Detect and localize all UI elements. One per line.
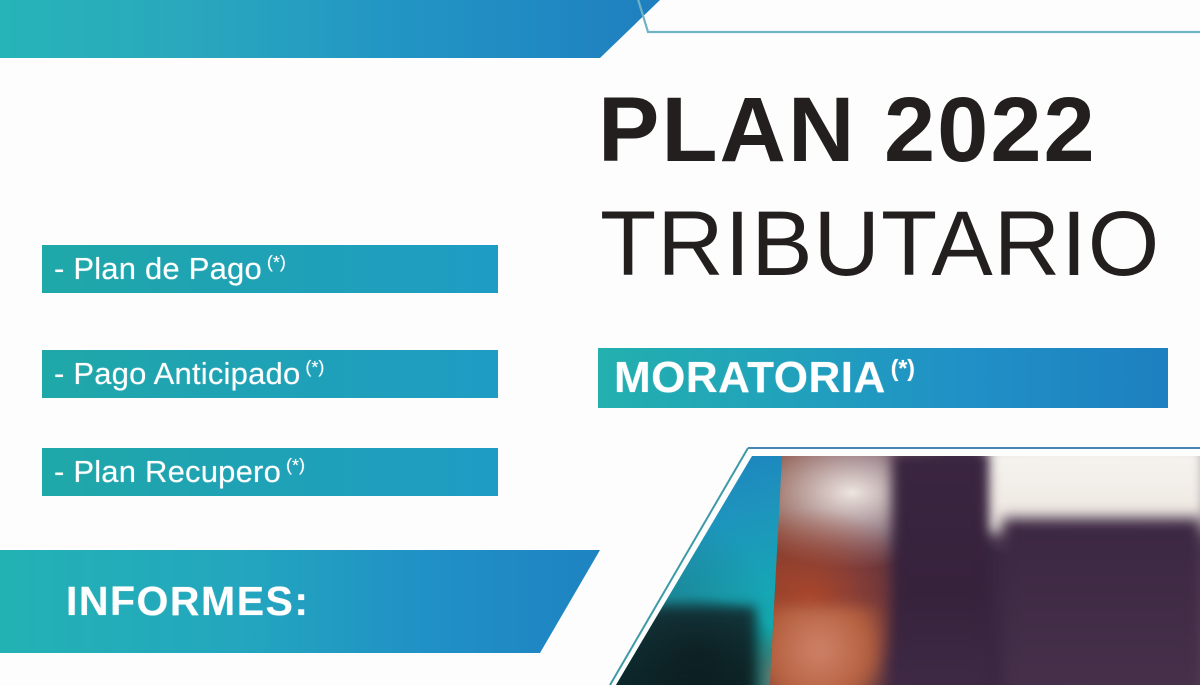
top-outline-accent-shape bbox=[600, 0, 1200, 46]
moratoria-text: MORATORIA bbox=[614, 353, 886, 402]
option-label: - Plan Recupero bbox=[54, 454, 281, 489]
option-bar-plan-recupero[interactable]: - Plan Recupero(*) bbox=[42, 448, 498, 496]
page-subtitle: TRIBUTARIO bbox=[600, 198, 1160, 290]
photo-right-panel bbox=[770, 456, 1200, 685]
informes-label: INFORMES: bbox=[0, 578, 310, 625]
option-asterisk: (*) bbox=[286, 455, 305, 475]
informes-banner: INFORMES: bbox=[0, 550, 600, 653]
poster-canvas: PLAN 2022 TRIBUTARIO MORATORIA(*) - Plan… bbox=[0, 0, 1200, 685]
option-bar-plan-de-pago[interactable]: - Plan de Pago(*) bbox=[42, 245, 498, 293]
photo-collage bbox=[608, 446, 1200, 685]
option-label: - Pago Anticipado bbox=[54, 356, 300, 391]
option-label: - Plan de Pago bbox=[54, 251, 262, 286]
option-asterisk: (*) bbox=[267, 252, 286, 272]
photo-right-sleeve-right bbox=[1002, 518, 1200, 685]
moratoria-label: MORATORIA(*) bbox=[598, 353, 915, 403]
option-label-wrapper: - Pago Anticipado(*) bbox=[42, 356, 324, 392]
top-gradient-banner bbox=[0, 0, 660, 58]
photo-left-shadow bbox=[616, 606, 756, 685]
option-bar-pago-anticipado[interactable]: - Pago Anticipado(*) bbox=[42, 350, 498, 398]
photo-right-hand bbox=[770, 606, 884, 685]
option-label-wrapper: - Plan de Pago(*) bbox=[42, 251, 286, 287]
moratoria-asterisk: (*) bbox=[891, 355, 915, 381]
option-asterisk: (*) bbox=[305, 357, 324, 377]
moratoria-banner: MORATORIA(*) bbox=[598, 348, 1168, 408]
photo-right-sleeve-left bbox=[892, 456, 988, 685]
option-label-wrapper: - Plan Recupero(*) bbox=[42, 454, 305, 490]
page-title: PLAN 2022 bbox=[598, 84, 1097, 176]
